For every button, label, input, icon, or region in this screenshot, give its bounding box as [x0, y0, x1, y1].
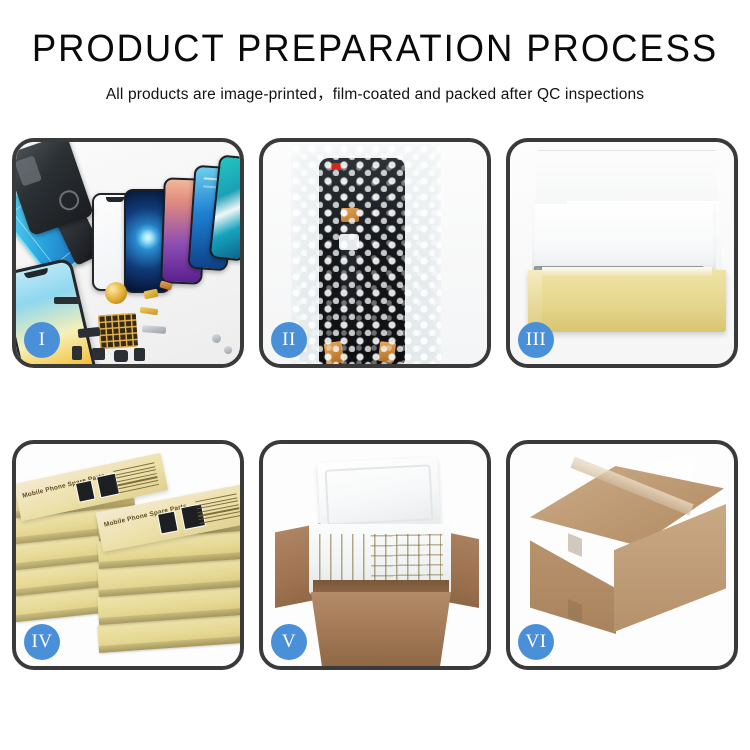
- step-badge-2: II: [271, 322, 307, 358]
- step-panel-1: I: [12, 138, 244, 368]
- step-badge-5: V: [271, 624, 307, 660]
- spare-part-speaker: [114, 350, 128, 362]
- page-subtitle: All products are image-printed，film-coat…: [0, 82, 750, 104]
- spare-part-button: [134, 348, 145, 361]
- box-print-spec-lines: [195, 493, 240, 527]
- step-panel-4: Mobile Phone Spare Parts Mobile Phone Sp…: [12, 440, 244, 670]
- spare-part-strip: [54, 297, 80, 304]
- step-badge-6: VI: [518, 624, 554, 660]
- spare-part-gold-a: [143, 289, 158, 300]
- retail-boxes-inside-b: [371, 531, 444, 586]
- step-panel-6: VI: [506, 440, 738, 670]
- carton-handle-notch-top: [568, 533, 582, 557]
- vibration-motor-part: [105, 282, 127, 304]
- step-badge-1: I: [24, 322, 60, 358]
- step-panel-2: II: [259, 138, 491, 368]
- spare-part-screw-a: [212, 334, 221, 343]
- box-print-spec-lines: [113, 462, 159, 496]
- spare-part-flex-a: [78, 327, 101, 338]
- spare-part-camera: [92, 348, 105, 360]
- spare-part-bracket: [142, 325, 166, 334]
- white-foam-sheet: [532, 204, 716, 270]
- kraft-tray-base: [528, 270, 726, 332]
- header: PRODUCT PREPARATION PROCESS All products…: [0, 0, 750, 104]
- process-steps-grid: I II: [12, 138, 738, 684]
- ic-chip-grid-part: [98, 313, 138, 350]
- step-panel-3: III: [506, 138, 738, 368]
- page-title: PRODUCT PREPARATION PROCESS: [15, 30, 735, 70]
- spare-part-gold-b: [140, 307, 159, 315]
- bubble-pattern-secondary: [291, 144, 441, 364]
- spare-part-screw-b: [224, 346, 232, 354]
- step-badge-4: IV: [24, 624, 60, 660]
- bubble-wrap-bag: [291, 144, 441, 364]
- step-panel-5: V: [259, 440, 491, 670]
- box-print-screen-thumb: [157, 511, 179, 535]
- product-preparation-infographic: PRODUCT PREPARATION PROCESS All products…: [0, 0, 750, 750]
- tray-lip: [542, 267, 712, 276]
- spare-part-flex-b: [72, 346, 82, 360]
- step-badge-3: III: [518, 322, 554, 358]
- box-print-screen-thumb: [75, 480, 96, 503]
- carton-front-panel: [311, 592, 451, 666]
